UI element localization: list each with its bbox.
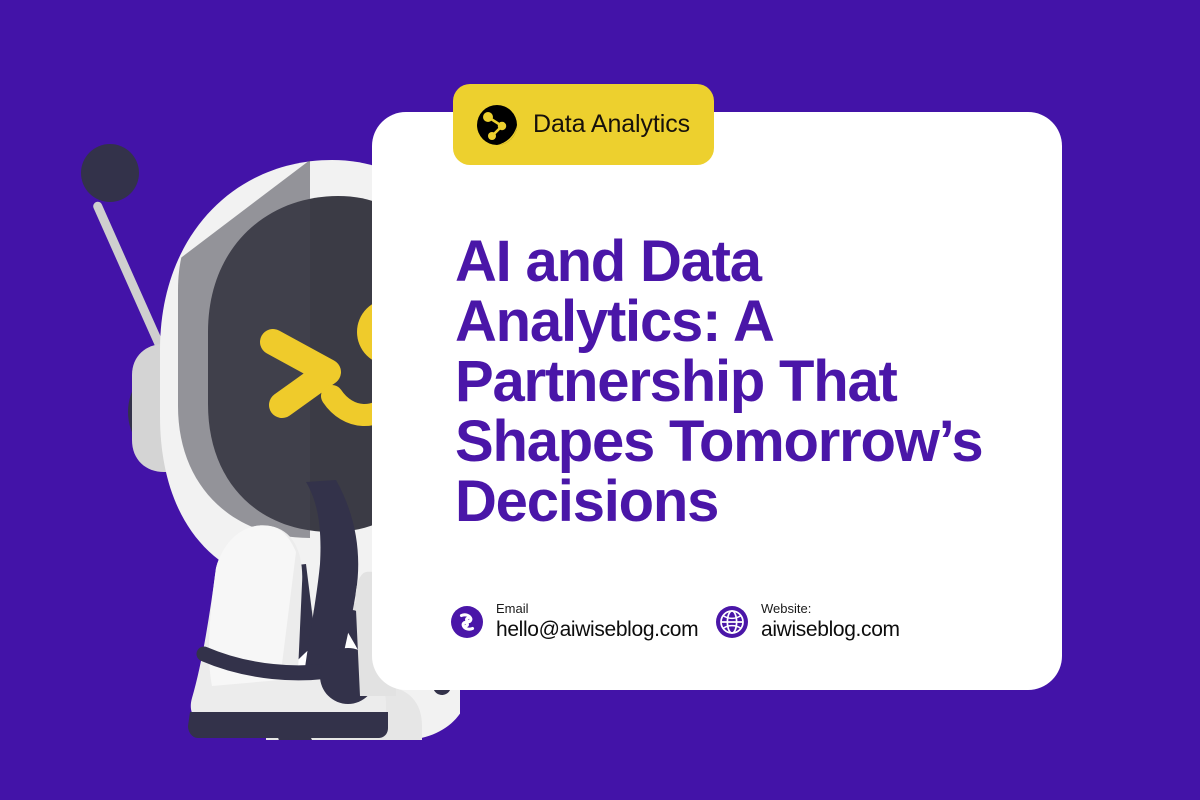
robot-antenna [81,144,169,359]
robot-wink-eye [273,342,328,405]
contact-website-text: Website: aiwiseblog.com [761,601,900,643]
poster-canvas: Data Analytics AI and Data Analytics: A … [0,0,1200,800]
data-network-node-icon [475,103,519,147]
contact-website-label: Website: [761,601,900,617]
contact-email[interactable]: Email hello@aiwiseblog.com [450,601,715,643]
globe-icon [715,605,749,639]
contact-email-label: Email [496,601,698,617]
contact-website[interactable]: Website: aiwiseblog.com [715,601,900,643]
category-badge[interactable]: Data Analytics [453,84,714,165]
category-badge-label: Data Analytics [533,112,690,137]
contact-row: Email hello@aiwiseblog.com Website: aiwi… [450,598,1010,646]
page-title: AI and Data Analytics: A Partnership Tha… [455,232,1000,532]
contact-email-text: Email hello@aiwiseblog.com [496,601,698,643]
contact-website-value: aiwiseblog.com [761,617,900,643]
email-badge-icon [450,605,484,639]
contact-email-value: hello@aiwiseblog.com [496,617,698,643]
